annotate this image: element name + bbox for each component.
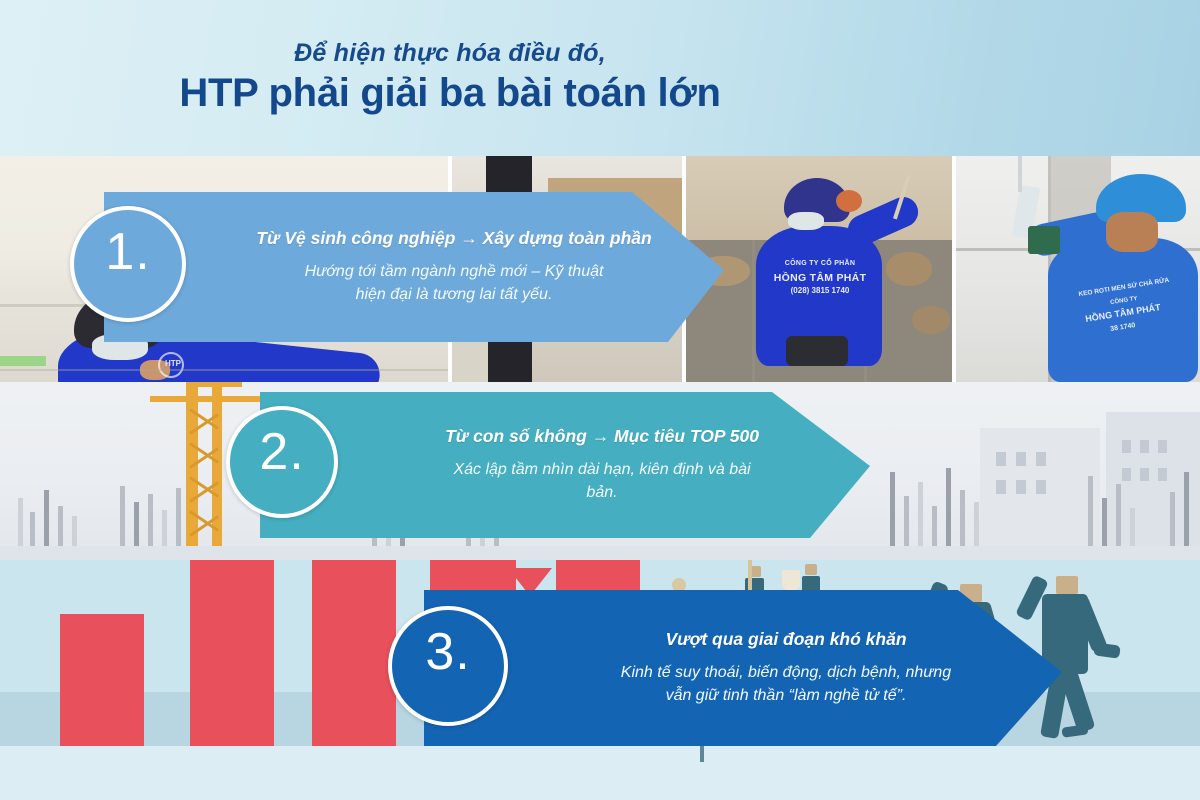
caulk-gun	[1028, 226, 1060, 254]
step-subtitle-2: Xác lập tầm nhìn dài hạn, kiên định và b…	[437, 458, 767, 504]
header-text-block: Để hiện thực hóa điều đó, HTP phải giải …	[0, 0, 900, 156]
chart-bar-1	[60, 614, 144, 746]
step-number-badge-1: 1.	[70, 206, 186, 322]
photo-worker-caulking: KEO ROTI MEN SỨ CHÀ RỬA CÔNG TY HỒNG TÂM…	[956, 156, 1200, 382]
step-banner-1[interactable]: Từ Vệ sinh công nghiệp → Xây dựng toàn p…	[64, 192, 754, 342]
step-banner-3[interactable]: Vượt qua giai đoạn khó khăn Kinh tế suy …	[382, 590, 1098, 746]
chart-bar-2	[190, 560, 274, 746]
infographic-root: Để hiện thực hóa điều đó, HTP phải giải …	[0, 0, 1200, 800]
shirt-logo-badge: HTP	[158, 352, 184, 378]
header-eyebrow: Để hiện thực hóa điều đó,	[294, 40, 606, 68]
tool-pouch	[786, 336, 848, 366]
step-title-2: Từ con số không → Mục tiêu TOP 500	[445, 426, 759, 448]
shirt-company-phone: (028) 3815 1740	[762, 286, 878, 296]
shirt-company-line1: CÔNG TY CỔ PHẦN	[762, 260, 878, 269]
step-number-badge-2: 2.	[226, 406, 338, 518]
step-number-badge-3: 3.	[388, 606, 508, 726]
step-banner-2[interactable]: Từ con số không → Mục tiêu TOP 500 Xác l…	[222, 392, 892, 538]
step-title-3: Vượt qua giai đoạn khó khăn	[665, 629, 906, 651]
header-band: Để hiện thực hóa điều đó, HTP phải giải …	[0, 0, 1200, 156]
row-step-3: Vượt qua giai đoạn khó khăn Kinh tế suy …	[0, 560, 1200, 800]
shirt-company-line2: HỒNG TÂM PHÁT	[762, 272, 878, 285]
step-number-3: 3.	[425, 610, 470, 678]
row-step-2: Từ con số không → Mục tiêu TOP 500 Xác l…	[0, 382, 1200, 560]
step-number-2: 2.	[259, 410, 304, 478]
step-title-1: Từ Vệ sinh công nghiệp → Xây dựng toàn p…	[256, 228, 651, 250]
step-subtitle-1: Hướng tới tầm ngành nghề mới – Kỹ thuật …	[289, 260, 619, 306]
step-number-1: 1.	[105, 210, 150, 278]
bucket-icon	[782, 570, 800, 590]
shirt-logo-text: HTP	[160, 359, 186, 369]
page-title: HTP phải giải ba bài toán lớn	[179, 71, 720, 116]
row-step-1: HTP	[0, 156, 1200, 382]
step-subtitle-3: Kinh tế suy thoái, biến động, dịch bệnh,…	[606, 661, 966, 707]
